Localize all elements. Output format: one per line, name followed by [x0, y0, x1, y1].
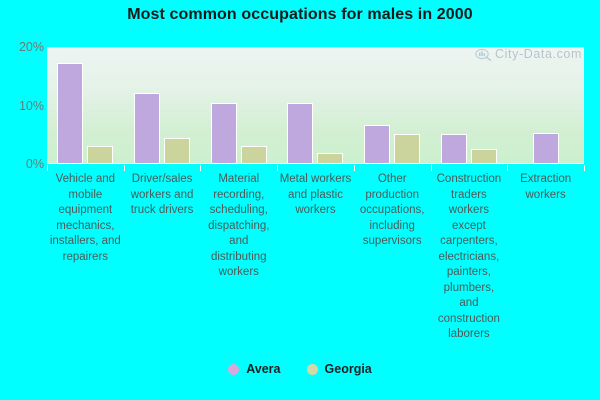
- y-axis-tick-label: 10%: [0, 99, 44, 113]
- bar-avera[interactable]: [364, 125, 390, 164]
- bar-georgia[interactable]: [87, 146, 113, 164]
- bar-group: [431, 47, 508, 164]
- plot-area: [47, 47, 584, 164]
- magnifier-icon: [475, 48, 492, 61]
- bar-avera[interactable]: [287, 103, 313, 164]
- legend-swatch-icon: [307, 364, 318, 375]
- category-label: Metal workers and plastic workers: [279, 172, 352, 219]
- x-axis-tick: [431, 165, 432, 171]
- watermark-text: City-Data.com: [495, 47, 582, 61]
- x-axis-tick: [354, 165, 355, 171]
- category-label: Construction traders workers except carp…: [433, 172, 506, 343]
- x-axis-tick: [124, 165, 125, 171]
- bar-georgia[interactable]: [164, 138, 190, 164]
- category-label: Material recording, scheduling, dispatch…: [202, 172, 275, 281]
- y-axis-tick-label: 20%: [0, 40, 44, 54]
- chart-title: Most common occupations for males in 200…: [0, 6, 600, 24]
- bar-group: [124, 47, 201, 164]
- bar-georgia[interactable]: [241, 146, 267, 164]
- x-axis-tick: [200, 165, 201, 171]
- bar-group: [507, 47, 584, 164]
- bar-group: [277, 47, 354, 164]
- x-axis-tick: [277, 165, 278, 171]
- bar-avera[interactable]: [533, 133, 559, 164]
- legend-item-avera[interactable]: Avera: [228, 362, 280, 376]
- legend-label: Georgia: [325, 362, 372, 376]
- y-axis-tick-label: 0%: [0, 157, 44, 171]
- bar-georgia[interactable]: [471, 149, 497, 164]
- bar-group: [200, 47, 277, 164]
- chart-legend: AveraGeorgia: [0, 362, 600, 376]
- bar-avera[interactable]: [134, 93, 160, 164]
- legend-swatch-icon: [228, 364, 239, 375]
- bar-avera[interactable]: [211, 103, 237, 164]
- category-label: Other production occupations, including …: [356, 172, 429, 250]
- bar-group: [354, 47, 431, 164]
- x-axis-tick: [584, 165, 585, 171]
- bar-group: [47, 47, 124, 164]
- watermark: City-Data.com: [475, 47, 582, 61]
- category-label: Driver/sales workers and truck drivers: [126, 172, 199, 219]
- bar-avera[interactable]: [57, 63, 83, 164]
- category-label: Vehicle and mobile equipment mechanics, …: [49, 172, 122, 265]
- legend-label: Avera: [246, 362, 280, 376]
- x-axis-tick: [47, 165, 48, 171]
- legend-item-georgia[interactable]: Georgia: [307, 362, 372, 376]
- bar-georgia[interactable]: [394, 134, 420, 164]
- chart-container: Most common occupations for males in 200…: [0, 0, 600, 400]
- x-axis-tick: [507, 165, 508, 171]
- bar-avera[interactable]: [441, 134, 467, 164]
- category-label: Extraction workers: [509, 172, 582, 203]
- bar-georgia[interactable]: [317, 153, 343, 164]
